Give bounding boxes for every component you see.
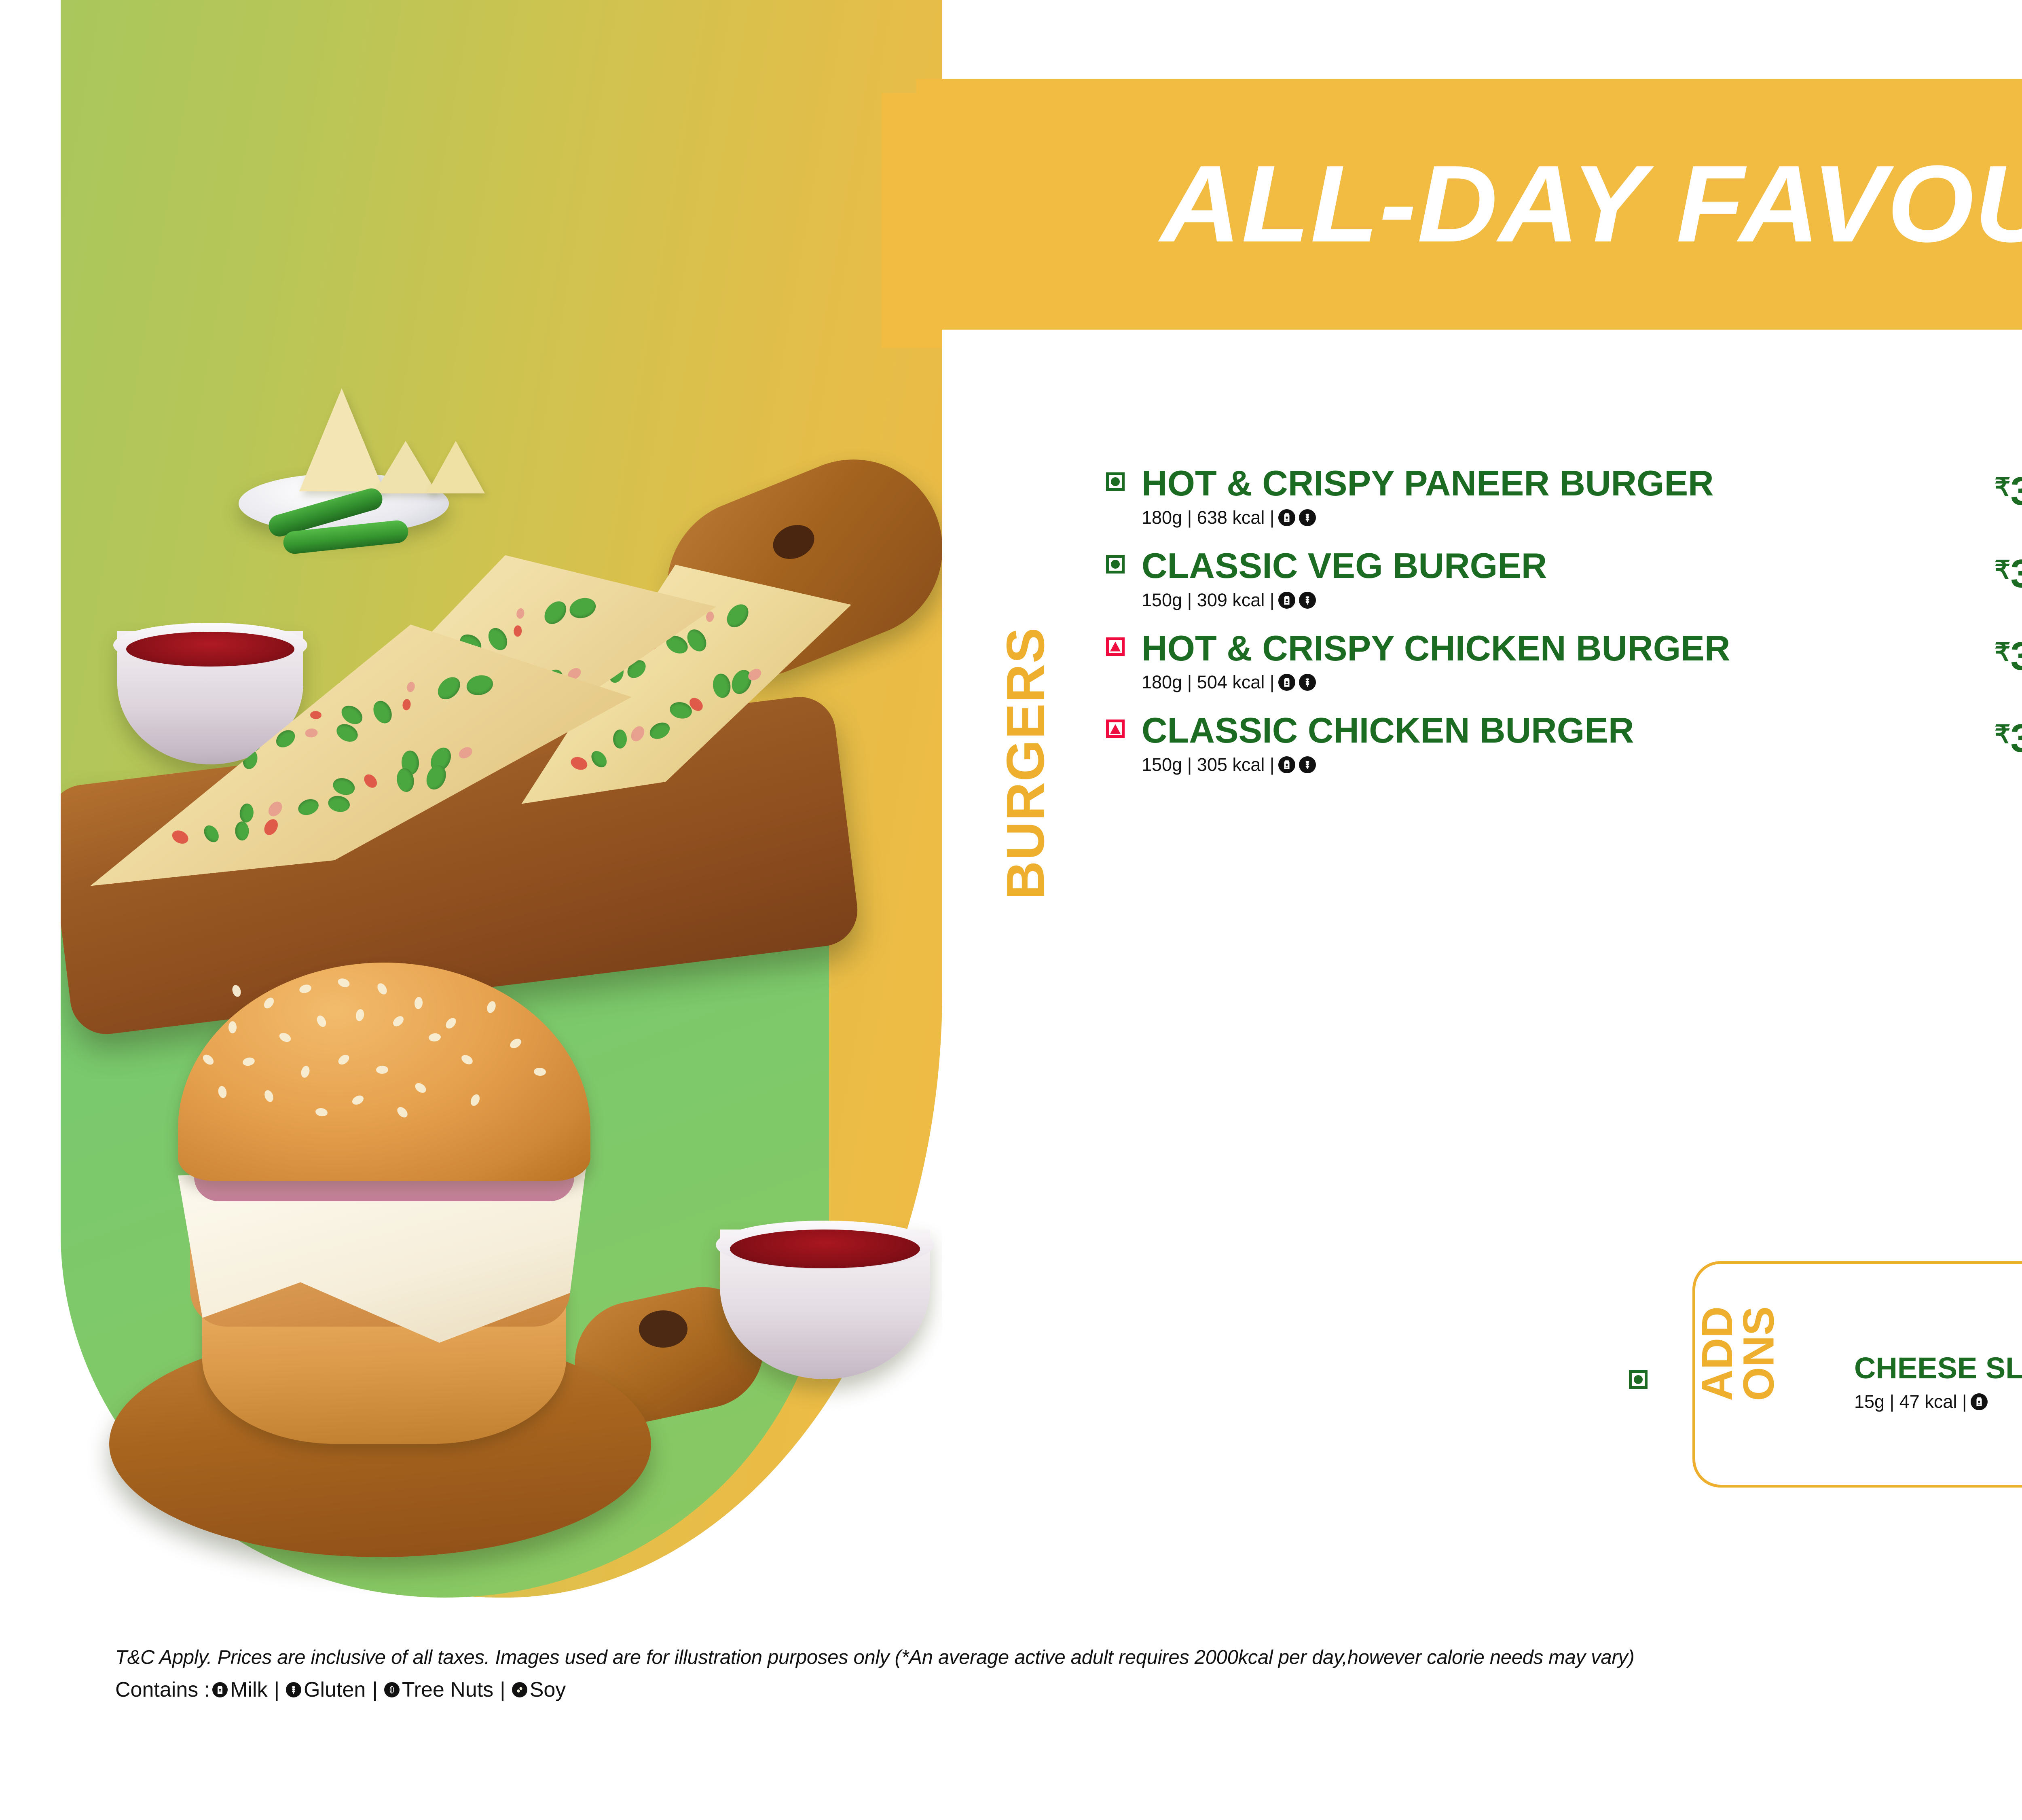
rupee-symbol: ₹ bbox=[1995, 721, 2010, 749]
menu-item-meta: 180g | 504 kcal | bbox=[1142, 672, 2022, 693]
menu-item-head: HOT & CRISPY CHICKEN BURGER180g | 504 kc… bbox=[1106, 630, 2022, 693]
add-on-meta-text: 15g | 47 kcal | bbox=[1854, 1391, 1967, 1412]
menu-item-price-value: 330 bbox=[2010, 551, 2022, 596]
menu-item-head: CLASSIC VEG BURGER150g | 309 kcal | bbox=[1106, 548, 2022, 611]
menu-item-body: CLASSIC VEG BURGER150g | 309 kcal | bbox=[1142, 548, 2022, 611]
menu-item-meta-text: 150g | 309 kcal | bbox=[1142, 590, 1275, 611]
footer: T&C Apply. Prices are inclusive of all t… bbox=[115, 1646, 2022, 1702]
menu-item-body: HOT & CRISPY CHICKEN BURGER180g | 504 kc… bbox=[1142, 630, 2022, 693]
contains-label: Contains : bbox=[115, 1678, 210, 1702]
non-veg-marker-icon bbox=[1106, 720, 1125, 738]
menu-item-meta: 180g | 638 kcal | bbox=[1142, 507, 2022, 528]
menu-item-body: CLASSIC CHICKEN BURGER150g | 305 kcal | bbox=[1142, 712, 2022, 775]
add-on-item-name: CHEESE SLICE bbox=[1854, 1351, 2022, 1385]
legend-separator-2: | bbox=[372, 1678, 378, 1702]
add-ons-label: ADDONS bbox=[1696, 1306, 1779, 1401]
menu-item-meta: 150g | 305 kcal | bbox=[1142, 754, 2022, 775]
menu-item-head: HOT & CRISPY PANEER BURGER180g | 638 kca… bbox=[1106, 465, 2022, 528]
rupee-symbol: ₹ bbox=[1995, 639, 2010, 667]
milk-icon bbox=[1278, 756, 1295, 773]
menu-item: HOT & CRISPY PANEER BURGER180g | 638 kca… bbox=[1106, 465, 2022, 528]
menu-item-meta-text: 180g | 504 kcal | bbox=[1142, 672, 1275, 693]
add-on-item-meta: 15g | 47 kcal | bbox=[1854, 1391, 1988, 1412]
menu-list-burgers: HOT & CRISPY PANEER BURGER180g | 638 kca… bbox=[1106, 465, 2022, 795]
menu-item-meta-text: 180g | 638 kcal | bbox=[1142, 507, 1275, 528]
menu-item-name: HOT & CRISPY PANEER BURGER bbox=[1142, 465, 1797, 502]
milk-icon bbox=[1278, 592, 1295, 609]
menu-item-price: ₹380 bbox=[1995, 633, 2022, 679]
rupee-symbol: ₹ bbox=[1995, 556, 2010, 584]
veg-marker-icon bbox=[1106, 472, 1125, 491]
non-veg-marker-icon bbox=[1106, 637, 1125, 656]
menu-item-price: ₹350 bbox=[1995, 468, 2022, 514]
menu-item-head: CLASSIC CHICKEN BURGER150g | 305 kcal | bbox=[1106, 712, 2022, 775]
legend-label-milk: Milk bbox=[230, 1678, 267, 1702]
tree-nuts-icon bbox=[384, 1682, 400, 1697]
legend-separator-3: | bbox=[500, 1678, 505, 1702]
legend-label-tree-nuts: Tree Nuts bbox=[402, 1678, 493, 1702]
menu-item-price-value: 350 bbox=[2010, 469, 2022, 513]
footer-disclaimer: T&C Apply. Prices are inclusive of all t… bbox=[115, 1646, 2022, 1669]
category-label-burgers: BURGERS bbox=[999, 627, 1052, 899]
gluten-icon bbox=[1299, 674, 1316, 691]
menu-item: CLASSIC CHICKEN BURGER150g | 305 kcal |₹… bbox=[1106, 712, 2022, 775]
footer-allergen-legend: Contains : Milk | Gluten | Tree Nuts | S… bbox=[115, 1678, 2022, 1702]
milk-icon bbox=[1971, 1393, 1988, 1410]
legend-label-gluten: Gluten bbox=[304, 1678, 366, 1702]
veg-marker-icon bbox=[1106, 555, 1125, 574]
gluten-icon bbox=[1299, 509, 1316, 526]
menu-item-meta: 150g | 309 kcal | bbox=[1142, 590, 2022, 611]
legend-label-soy: Soy bbox=[530, 1678, 566, 1702]
gluten-icon bbox=[1299, 756, 1316, 773]
menu-item-price: ₹330 bbox=[1995, 551, 2022, 597]
menu-item-price: ₹350 bbox=[1995, 715, 2022, 761]
add-ons-label-line2: ONS bbox=[1734, 1306, 1783, 1401]
soy-icon bbox=[512, 1682, 527, 1697]
menu-item-body: HOT & CRISPY PANEER BURGER180g | 638 kca… bbox=[1142, 465, 2022, 528]
menu-item-name: CLASSIC VEG BURGER bbox=[1142, 548, 1797, 584]
menu-item-meta-text: 150g | 305 kcal | bbox=[1142, 754, 1275, 775]
milk-icon bbox=[1278, 509, 1295, 526]
menu-item: CLASSIC VEG BURGER150g | 309 kcal |₹330 bbox=[1106, 548, 2022, 611]
menu-item: HOT & CRISPY CHICKEN BURGER180g | 504 kc… bbox=[1106, 630, 2022, 693]
menu-item-name: CLASSIC CHICKEN BURGER bbox=[1142, 712, 1797, 749]
menu-item-name: HOT & CRISPY CHICKEN BURGER bbox=[1142, 630, 1797, 667]
milk-icon bbox=[212, 1682, 228, 1697]
gluten-icon bbox=[286, 1682, 301, 1697]
gluten-icon bbox=[1299, 592, 1316, 609]
legend-separator-1: | bbox=[274, 1678, 280, 1702]
menu-content: BURGERS HOT & CRISPY PANEER BURGER180g |… bbox=[0, 0, 2022, 1820]
rupee-symbol: ₹ bbox=[1995, 474, 2010, 502]
add-on-veg-marker-icon bbox=[1629, 1370, 1648, 1389]
menu-item-price-value: 380 bbox=[2010, 634, 2022, 678]
menu-item-price-value: 350 bbox=[2010, 716, 2022, 760]
milk-icon bbox=[1278, 674, 1295, 691]
